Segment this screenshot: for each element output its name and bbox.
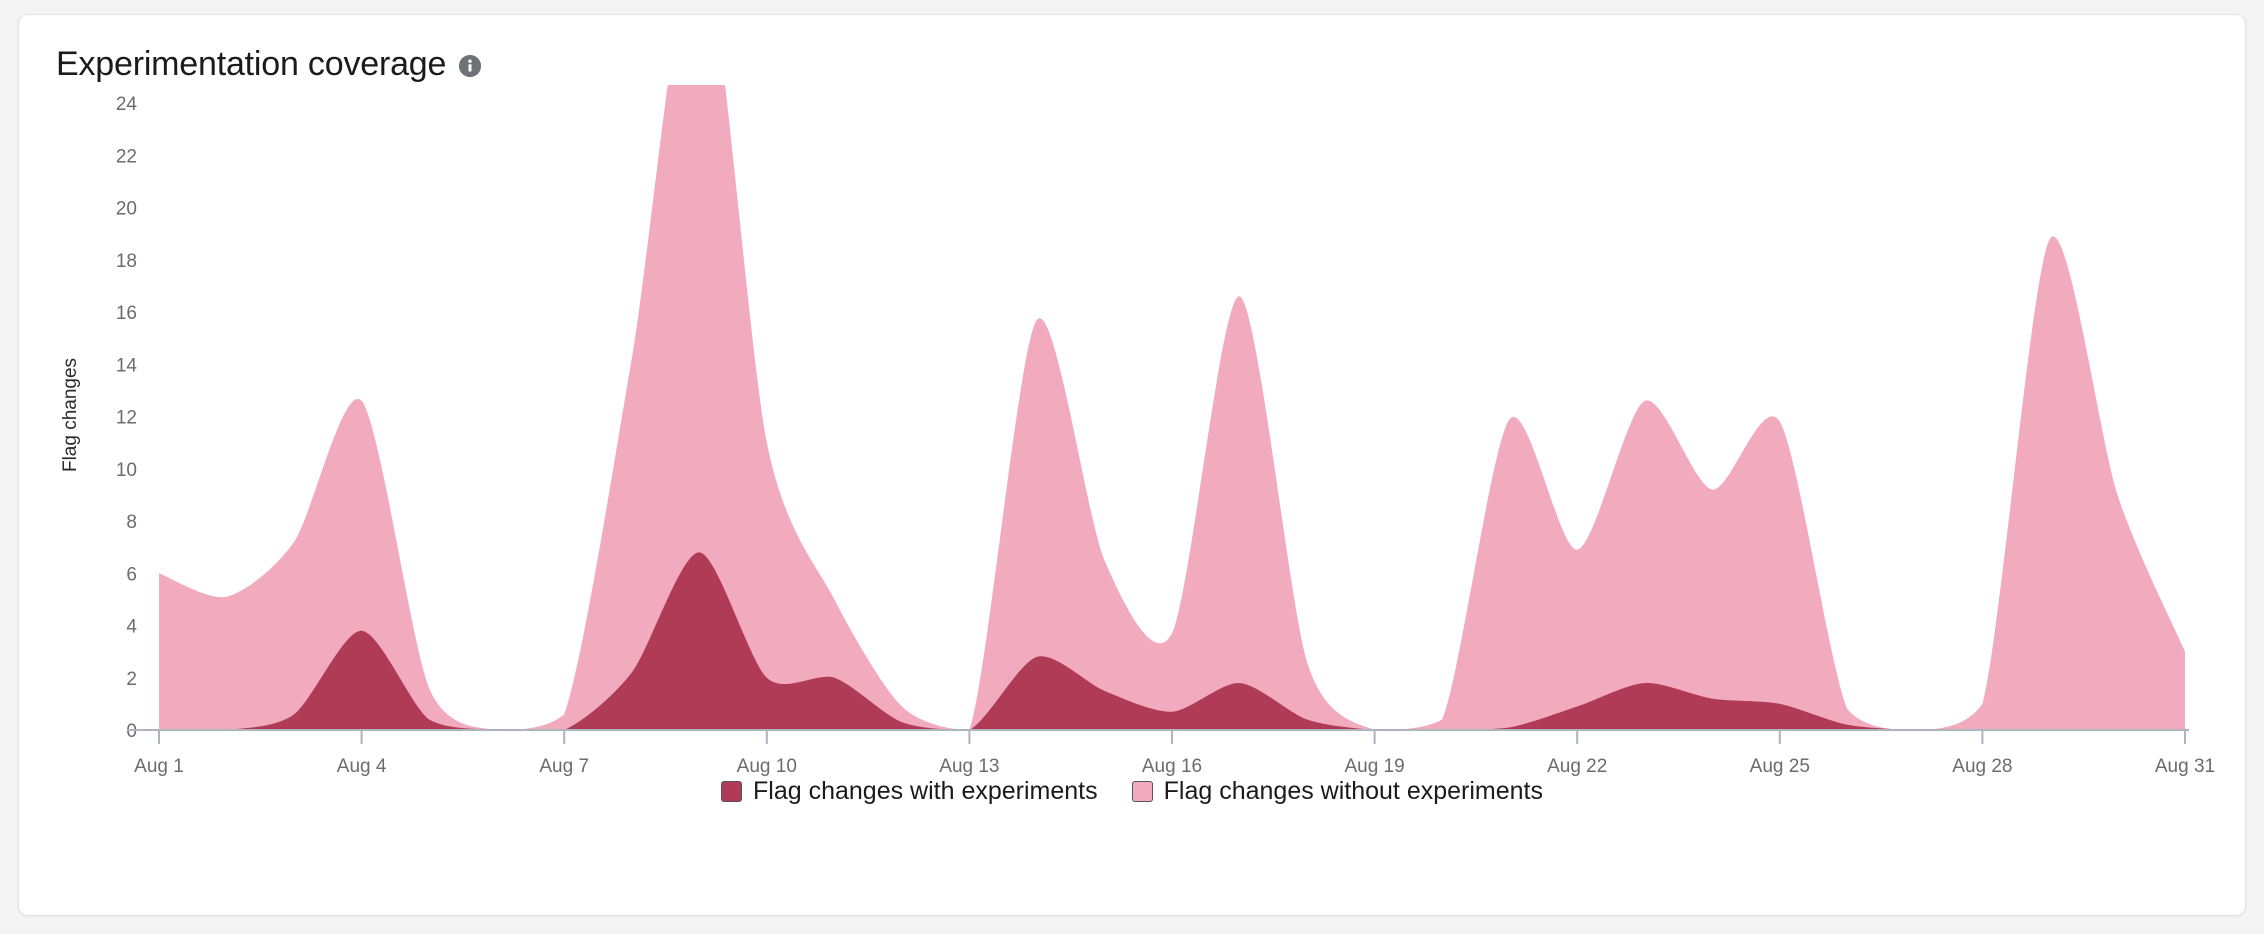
x-tick-label: Aug 1	[134, 756, 184, 777]
card-header: Experimentation coverage	[19, 15, 2245, 81]
y-tick-label: 24	[116, 94, 138, 115]
x-tick-label: Aug 13	[939, 756, 999, 777]
y-tick-label: 10	[116, 460, 137, 481]
area-chart[interactable]: 024681012141618202224Aug 1Aug 4Aug 7Aug …	[19, 85, 2246, 785]
x-tick-label: Aug 31	[2155, 756, 2215, 777]
y-tick-label: 6	[126, 564, 137, 585]
x-tick-label: Aug 25	[1750, 756, 1810, 777]
y-axis-title: Flag changes	[60, 358, 82, 472]
page-root: Experimentation coverage Flag changes 02…	[0, 0, 2264, 934]
x-tick-label: Aug 22	[1547, 756, 1607, 777]
x-tick-label: Aug 28	[1952, 756, 2012, 777]
y-tick-label: 8	[126, 512, 137, 533]
y-tick-label: 20	[116, 199, 137, 220]
chart-plot-area: Flag changes 024681012141618202224Aug 1A…	[19, 85, 2246, 785]
x-tick-label: Aug 16	[1142, 756, 1202, 777]
info-icon[interactable]	[459, 55, 481, 77]
y-tick-label: 18	[116, 251, 137, 272]
area-series-without-experiments[interactable]	[159, 85, 2185, 730]
y-tick-label: 22	[116, 146, 137, 167]
y-tick-label: 2	[126, 669, 137, 690]
x-tick-label: Aug 7	[539, 756, 589, 777]
y-tick-label: 14	[116, 355, 138, 376]
page-title: Experimentation coverage	[56, 47, 446, 81]
x-tick-label: Aug 19	[1344, 756, 1404, 777]
experimentation-coverage-card: Experimentation coverage Flag changes 02…	[18, 14, 2246, 916]
y-tick-label: 12	[116, 408, 137, 429]
y-tick-label: 16	[116, 303, 137, 324]
x-tick-label: Aug 10	[737, 756, 797, 777]
x-tick-label: Aug 4	[337, 756, 387, 777]
y-tick-label: 4	[126, 617, 137, 638]
y-tick-label: 0	[126, 721, 137, 742]
